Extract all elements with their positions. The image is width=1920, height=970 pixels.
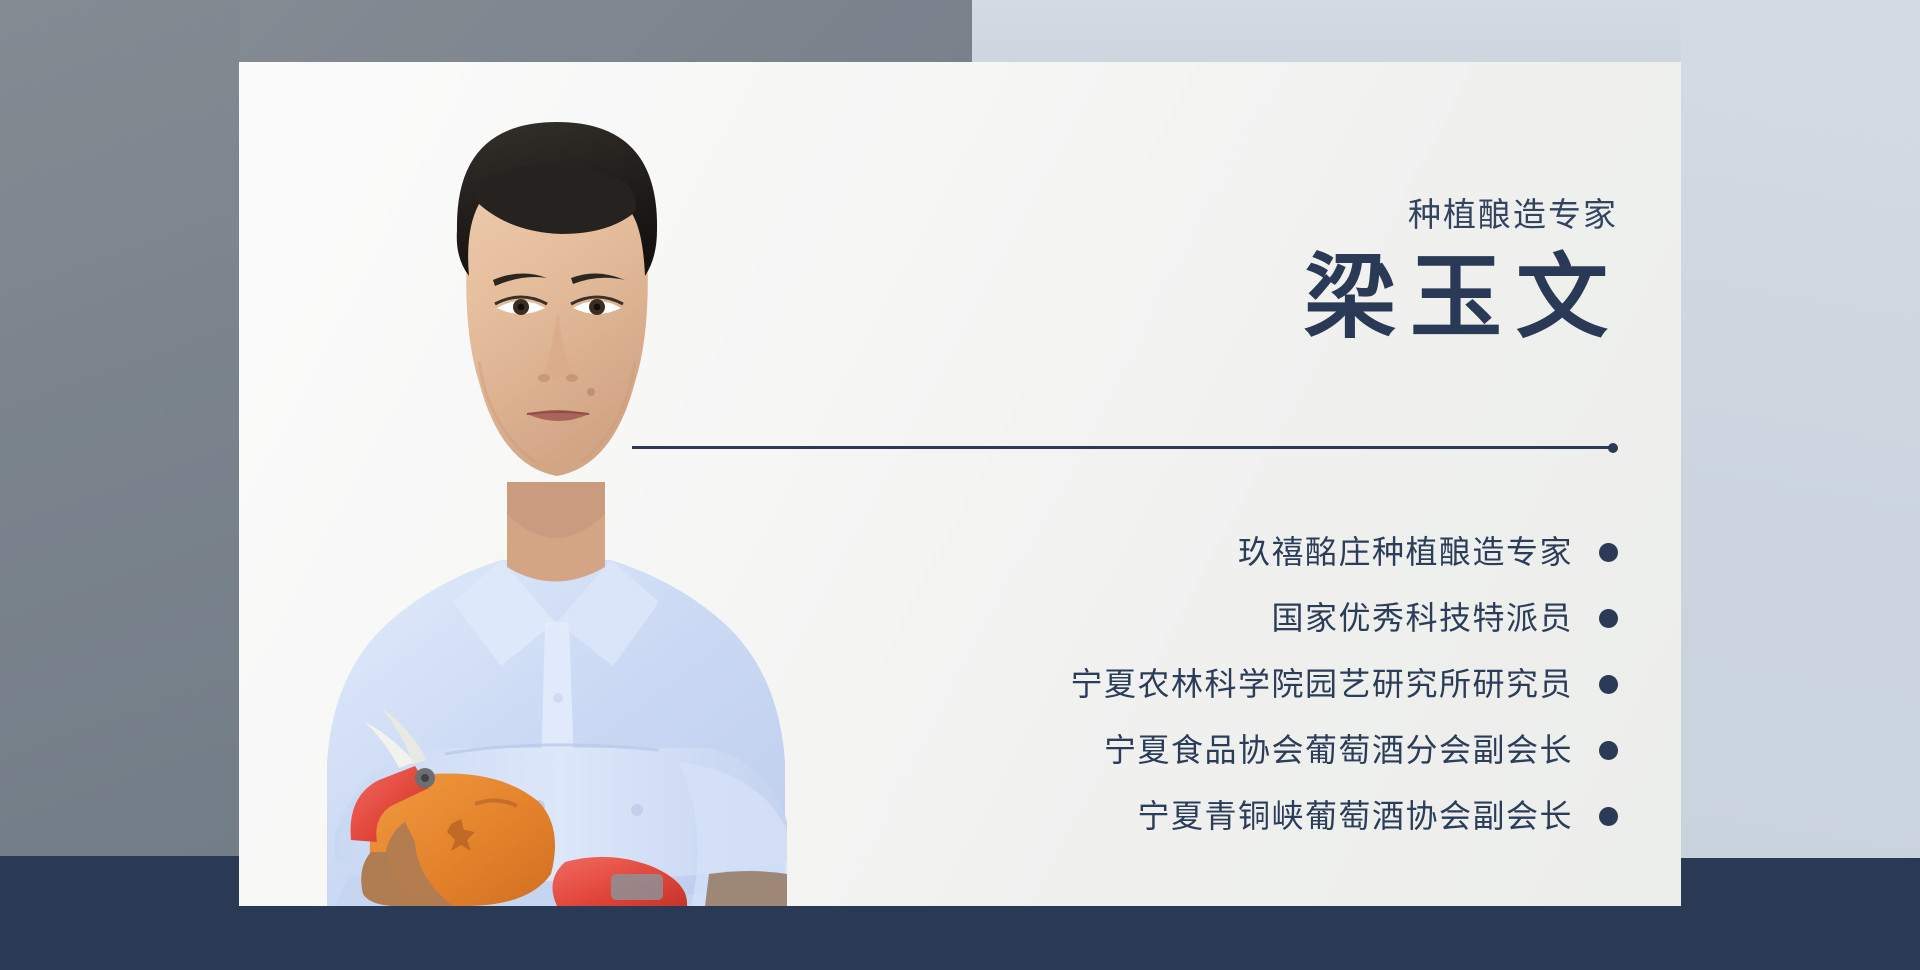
bullet-dot-icon xyxy=(1599,675,1618,694)
list-item: 国家优秀科技特派员 xyxy=(858,596,1618,640)
divider-line xyxy=(632,446,1610,449)
credential-label: 玖禧酩庄种植酿造专家 xyxy=(1238,530,1573,574)
list-item: 宁夏青铜峡葡萄酒协会副会长 xyxy=(858,794,1618,838)
background-panel-gray-left xyxy=(0,0,239,856)
credential-label: 国家优秀科技特派员 xyxy=(1271,596,1573,640)
list-item: 宁夏食品协会葡萄酒分会副会长 xyxy=(858,728,1618,772)
bullet-dot-icon xyxy=(1599,741,1618,760)
credentials-list: 玖禧酩庄种植酿造专家 国家优秀科技特派员 宁夏农林科学院园艺研究所研究员 宁夏食… xyxy=(858,530,1618,838)
profile-card: 种植酿造专家 梁玉文 玖禧酩庄种植酿造专家 国家优秀科技特派员 宁夏农林科学院园… xyxy=(239,62,1681,906)
divider-endcap-dot xyxy=(1608,443,1618,453)
title-divider xyxy=(632,443,1618,451)
expert-portrait-photo xyxy=(239,62,859,906)
background-panel-navy-right xyxy=(1681,858,1920,970)
expert-name-title: 梁玉文 xyxy=(862,252,1622,344)
credential-label: 宁夏农林科学院园艺研究所研究员 xyxy=(1070,662,1573,706)
expert-role-eyebrow: 种植酿造专家 xyxy=(858,198,1618,231)
background-panel-blue-right xyxy=(1681,0,1920,858)
background-panel-gray-top xyxy=(239,0,972,62)
bullet-dot-icon xyxy=(1599,807,1618,826)
background-panel-navy-left xyxy=(0,856,239,970)
expert-info-column: 种植酿造专家 梁玉文 玖禧酩庄种植酿造专家 国家优秀科技特派员 宁夏农林科学院园… xyxy=(858,62,1618,906)
bullet-dot-icon xyxy=(1599,543,1618,562)
list-item: 玖禧酩庄种植酿造专家 xyxy=(858,530,1618,574)
list-item: 宁夏农林科学院园艺研究所研究员 xyxy=(858,662,1618,706)
credential-label: 宁夏青铜峡葡萄酒协会副会长 xyxy=(1137,794,1573,838)
background-panel-navy-bottom xyxy=(239,906,1681,970)
poster-canvas: 种植酿造专家 梁玉文 玖禧酩庄种植酿造专家 国家优秀科技特派员 宁夏农林科学院园… xyxy=(0,0,1920,970)
bullet-dot-icon xyxy=(1599,609,1618,628)
credential-label: 宁夏食品协会葡萄酒分会副会长 xyxy=(1104,728,1573,772)
